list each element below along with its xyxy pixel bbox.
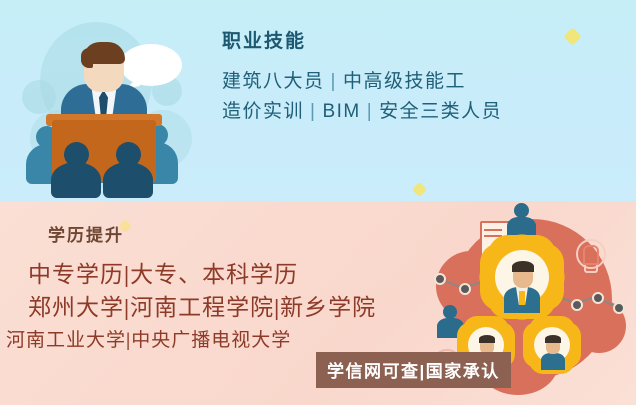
degree-item: 中专学历 — [28, 262, 124, 287]
school-item: 河南工程学院 — [130, 295, 274, 320]
separator: | — [361, 101, 379, 122]
network-node — [613, 302, 625, 314]
avatar-hair-small — [479, 335, 495, 343]
person-silhouette-head — [443, 305, 457, 319]
academic-upgrade-line-2: 郑州大学|河南工程学院|新乡学院 — [28, 291, 430, 324]
degree-item: 大专、本科学历 — [130, 262, 298, 287]
speech-bubble-icon — [120, 44, 182, 86]
academic-upgrade-line-3: 河南工业大学|中央广播电视大学 — [6, 327, 430, 356]
school-item: 中央广播电视大学 — [131, 330, 291, 351]
avatar-hair — [512, 261, 534, 272]
academic-upgrade-line-1: 中专学历|大专、本科学历 — [28, 258, 430, 291]
document-line — [484, 229, 502, 231]
vocational-skills-line-2: 造价实训|BIM|安全三类人员 — [222, 97, 622, 127]
skill-item: 建筑八大员 — [222, 71, 325, 92]
vocational-skills-title: 职业技能 — [222, 32, 622, 51]
lightbulb-filament — [583, 245, 599, 265]
verification-badge[interactable]: 学信网可查|国家承认 — [316, 352, 511, 388]
avatar-tie — [519, 291, 525, 305]
audience-body-front — [51, 162, 101, 198]
speaker-hair-side — [81, 48, 93, 68]
separator: | — [325, 71, 343, 92]
skill-item: 安全三类人员 — [379, 101, 502, 122]
school-item: 新乡学院 — [280, 295, 376, 320]
speaker-at-podium-illustration — [12, 14, 208, 196]
network-node — [592, 292, 604, 304]
separator: | — [304, 101, 322, 122]
school-item: 郑州大学 — [28, 295, 124, 320]
promo-banner: 职业技能 建筑八大员|中高级技能工 造价实训|BIM|安全三类人员 — [0, 0, 636, 405]
network-node — [459, 283, 471, 295]
skill-item: 造价实训 — [222, 101, 304, 122]
audience-body-front — [103, 162, 153, 198]
skill-item: 中高级技能工 — [343, 71, 466, 92]
decorative-blob — [22, 80, 56, 114]
academic-upgrade-title: 学历提升 — [48, 221, 430, 246]
person-silhouette-head — [514, 203, 529, 218]
vocational-skills-line-1: 建筑八大员|中高级技能工 — [222, 67, 622, 97]
avatar-hair-small — [545, 335, 561, 343]
academic-upgrade-text-block: 学历提升 中专学历|大专、本科学历 郑州大学|河南工程学院|新乡学院 河南工业大… — [0, 221, 430, 355]
vocational-skills-text-block: 职业技能 建筑八大员|中高级技能工 造价实训|BIM|安全三类人员 — [222, 32, 622, 128]
avatar-body-small — [541, 353, 565, 370]
network-node — [434, 273, 446, 285]
vocational-skills-section: 职业技能 建筑八大员|中高级技能工 造价实训|BIM|安全三类人员 — [0, 0, 636, 201]
school-item: 河南工业大学 — [6, 330, 126, 351]
network-node — [571, 299, 583, 311]
skill-item: BIM — [322, 101, 360, 122]
